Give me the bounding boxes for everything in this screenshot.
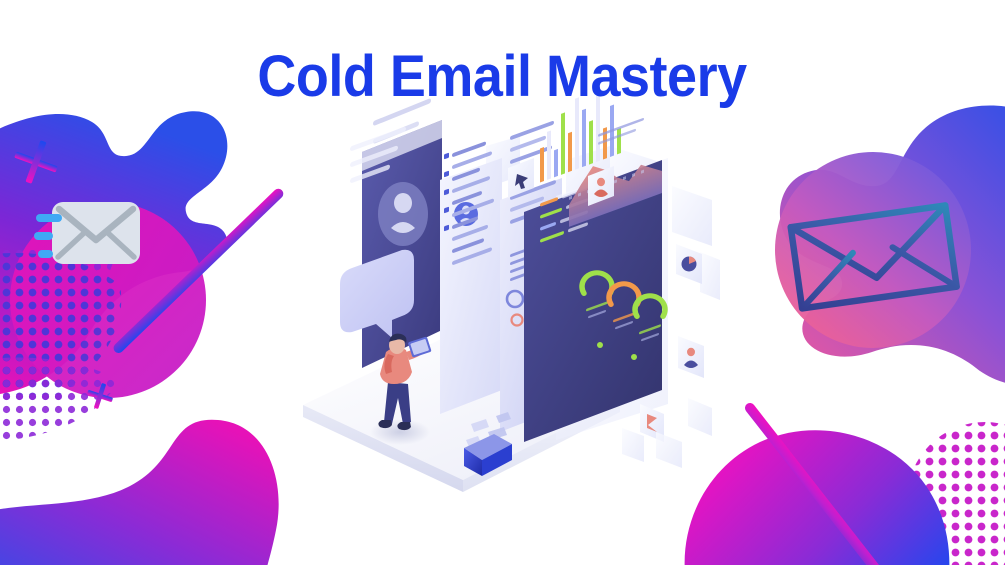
ghost-panel-e bbox=[672, 186, 712, 246]
ghost-panel-f bbox=[700, 252, 720, 300]
page-title-wrap: Cold Email Mastery bbox=[0, 46, 1005, 108]
user-avatar-icon bbox=[597, 178, 605, 186]
hourglass-tile bbox=[640, 404, 664, 565]
dashboard-panel bbox=[524, 82, 668, 442]
contact-list-panel bbox=[440, 138, 502, 414]
poster-canvas: Cold Email Mastery bbox=[0, 0, 1005, 565]
user-avatar-icon-2 bbox=[687, 348, 695, 356]
profile-avatar-head bbox=[394, 193, 412, 213]
profile-avatar-circle bbox=[378, 182, 428, 246]
pie-tile bbox=[676, 244, 702, 284]
page-title: Cold Email Mastery bbox=[258, 46, 747, 108]
avatar-tile-right bbox=[678, 336, 704, 378]
